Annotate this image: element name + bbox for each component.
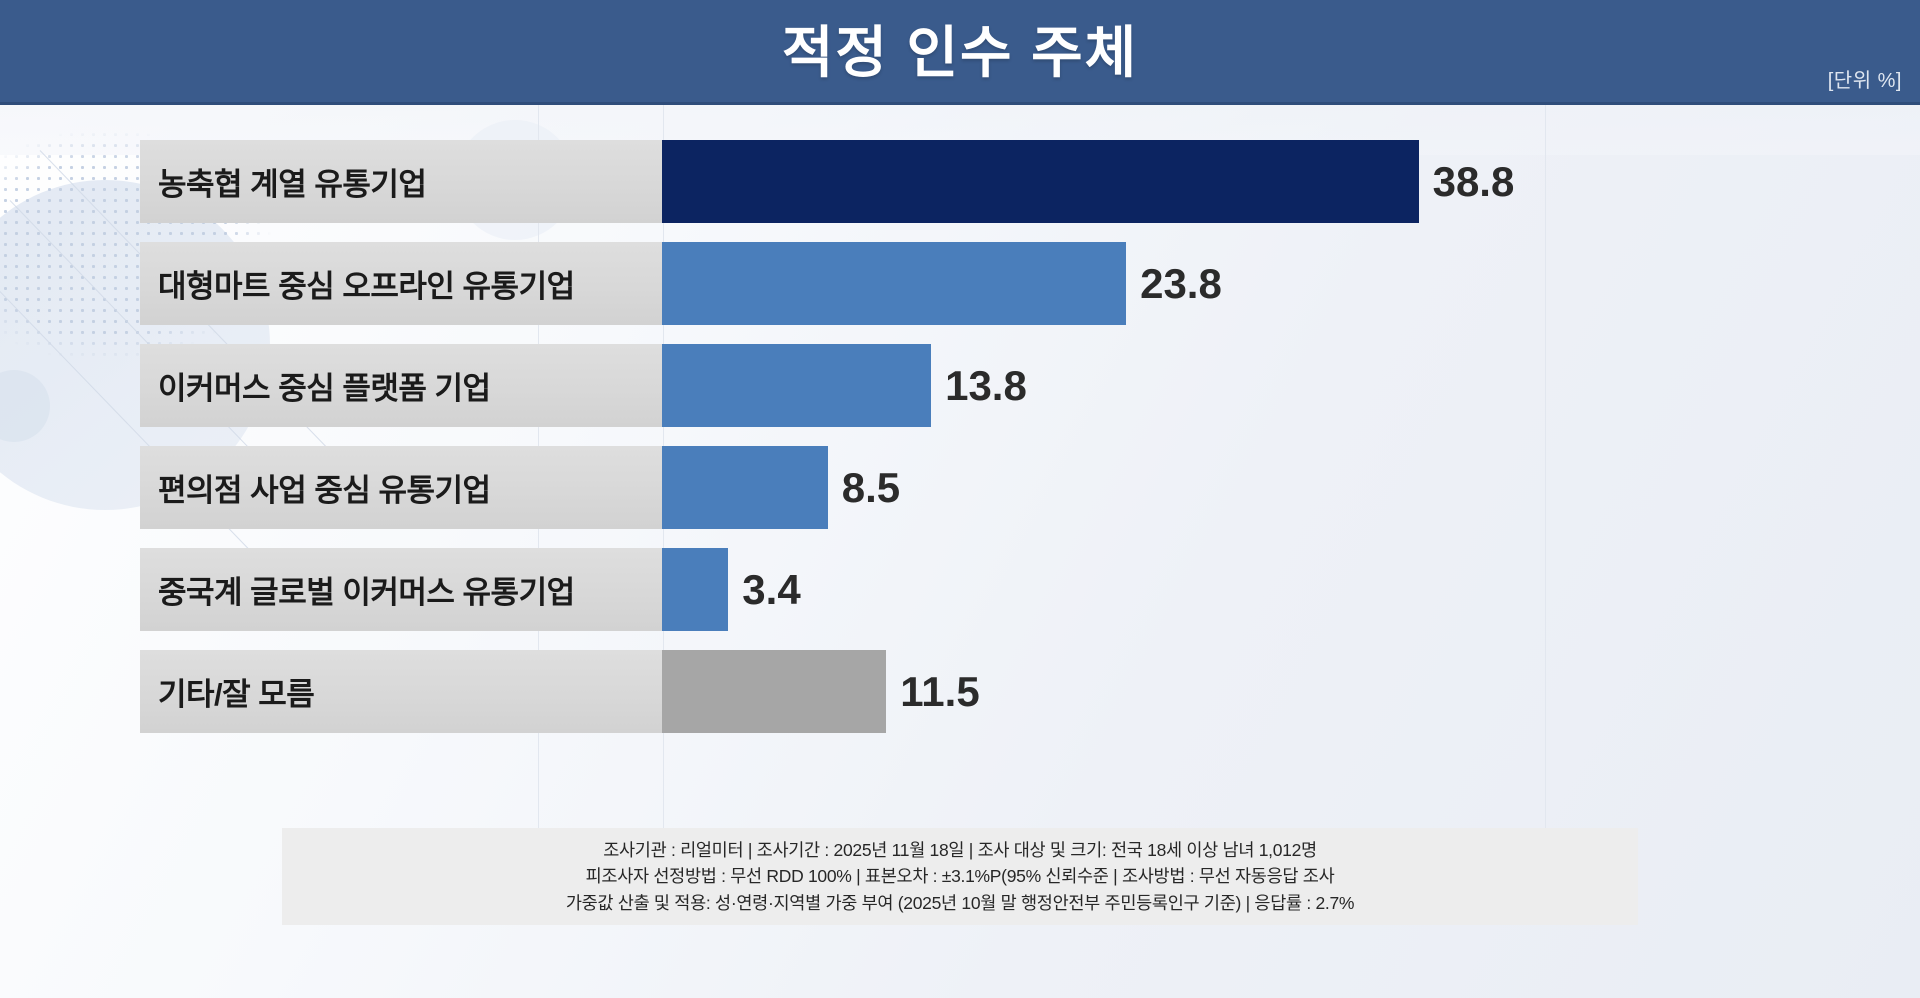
bar-value-label: 8.5 — [842, 467, 900, 509]
category-label-box: 이커머스 중심 플랫폼 기업 — [140, 344, 662, 427]
chart-row: 기타/잘 모름11.5 — [140, 650, 980, 733]
category-label: 편의점 사업 중심 유통기업 — [158, 465, 491, 510]
bar-group: 38.8 — [662, 140, 1514, 223]
bar — [662, 548, 728, 631]
methodology-footnote: 조사기관 : 리얼미터 | 조사기간 : 2025년 11월 18일 | 조사 … — [282, 828, 1638, 925]
category-label-box: 기타/잘 모름 — [140, 650, 662, 733]
header-underline — [0, 102, 1920, 105]
category-label-box: 중국계 글로벌 이커머스 유통기업 — [140, 548, 662, 631]
bar — [662, 650, 886, 733]
bar-value-label: 23.8 — [1140, 263, 1222, 305]
bar-group: 8.5 — [662, 446, 900, 529]
category-label: 이커머스 중심 플랫폼 기업 — [158, 363, 491, 408]
bar — [662, 140, 1419, 223]
chart-row: 중국계 글로벌 이커머스 유통기업3.4 — [140, 548, 801, 631]
chart-row: 농축협 계열 유통기업38.8 — [140, 140, 1514, 223]
header-bar: 적정 인수 주체 [단위 %] — [0, 0, 1920, 105]
bar — [662, 446, 828, 529]
chart-row: 편의점 사업 중심 유통기업8.5 — [140, 446, 900, 529]
unit-label: [단위 %] — [1828, 64, 1902, 93]
footnote-line-1: 조사기관 : 리얼미터 | 조사기간 : 2025년 11월 18일 | 조사 … — [603, 839, 1317, 861]
category-label: 대형마트 중심 오프라인 유통기업 — [158, 261, 575, 306]
chart-row: 대형마트 중심 오프라인 유통기업23.8 — [140, 242, 1222, 325]
decorative-circle-dot — [0, 370, 50, 442]
bar-value-label: 3.4 — [742, 569, 800, 611]
bar — [662, 344, 931, 427]
footnote-line-3: 가중값 산출 및 적용: 성·연령·지역별 가중 부여 (2025년 10월 말… — [566, 892, 1354, 914]
page-title: 적정 인수 주체 — [0, 25, 1920, 81]
category-label-box: 대형마트 중심 오프라인 유통기업 — [140, 242, 662, 325]
category-label-box: 편의점 사업 중심 유통기업 — [140, 446, 662, 529]
bar-value-label: 38.8 — [1433, 161, 1515, 203]
bar-group: 11.5 — [662, 650, 980, 733]
bar-value-label: 11.5 — [900, 671, 979, 713]
category-label: 농축협 계열 유통기업 — [158, 159, 426, 204]
bar-group: 3.4 — [662, 548, 801, 631]
bar — [662, 242, 1126, 325]
bar-group: 13.8 — [662, 344, 1027, 427]
category-label: 중국계 글로벌 이커머스 유통기업 — [158, 567, 575, 612]
category-label-box: 농축협 계열 유통기업 — [140, 140, 662, 223]
slide-canvas: 적정 인수 주체 [단위 %] 농축협 계열 유통기업38.8대형마트 중심 오… — [0, 0, 1920, 998]
bar-chart: 농축협 계열 유통기업38.8대형마트 중심 오프라인 유통기업23.8이커머스… — [140, 140, 1920, 800]
chart-row: 이커머스 중심 플랫폼 기업13.8 — [140, 344, 1027, 427]
bar-value-label: 13.8 — [945, 365, 1027, 407]
category-label: 기타/잘 모름 — [158, 669, 314, 714]
bar-group: 23.8 — [662, 242, 1222, 325]
footnote-line-2: 피조사자 선정방법 : 무선 RDD 100% | 표본오차 : ±3.1%P(… — [586, 865, 1335, 887]
